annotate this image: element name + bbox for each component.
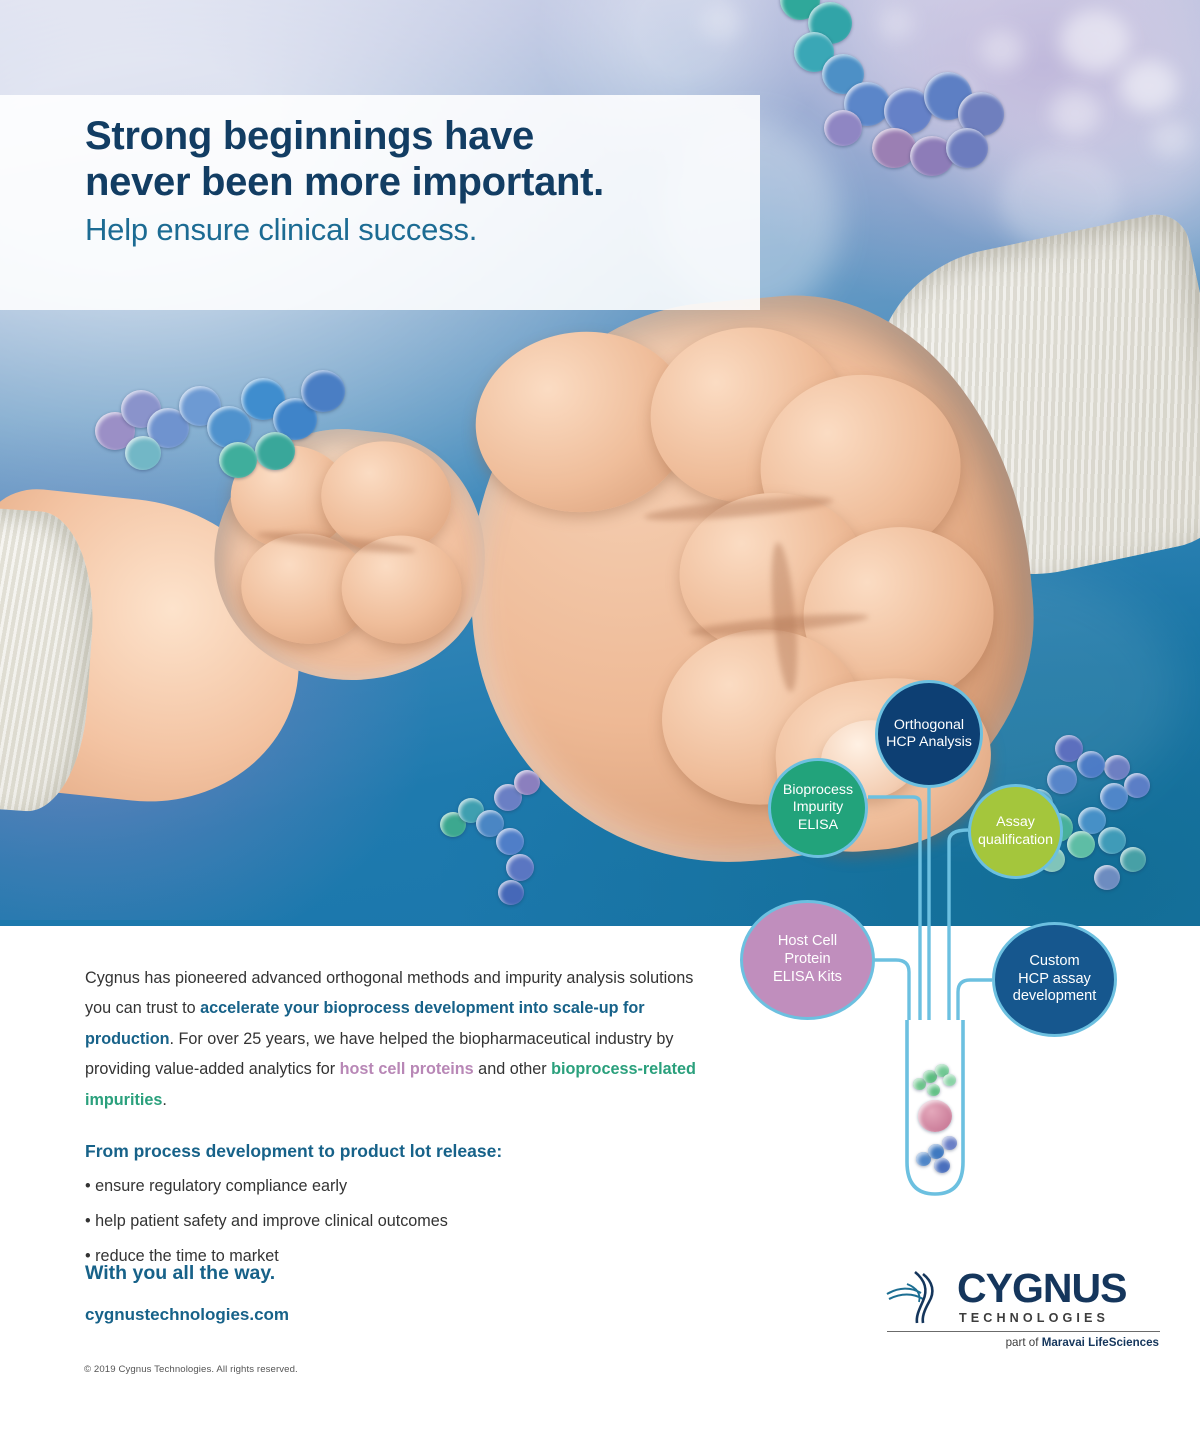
bokeh-circle — [1050, 90, 1100, 136]
molecule-node — [496, 828, 524, 855]
headline-line-1: Strong beginnings have — [85, 113, 604, 159]
emphasis-pink: host cell proteins — [340, 1060, 474, 1078]
antibody-molecule-mid-left — [95, 350, 365, 510]
benefits-list: ensure regulatory compliance early help … — [85, 1177, 705, 1265]
molecule-node — [125, 436, 161, 470]
advertisement-page: Strong beginnings have never been more i… — [0, 0, 1200, 1450]
logo-wordmark: CYGNUS — [957, 1269, 1160, 1308]
antibody-molecule-lower-left — [440, 770, 570, 915]
cygnus-logo: CYGNUS TECHNOLOGIES part of Maravai Life… — [885, 1268, 1160, 1349]
molecule-node — [928, 1144, 944, 1159]
bubble-label-line: Host Cell — [773, 933, 842, 951]
molecule-node — [872, 128, 916, 168]
intro-paragraph: Cygnus has pioneered advanced orthogonal… — [85, 963, 705, 1115]
logo-divider — [887, 1331, 1160, 1332]
bubble-label-line: Assay — [978, 814, 1053, 831]
headline-panel: Strong beginnings have never been more i… — [0, 95, 760, 310]
bubble-label-line: qualification — [978, 832, 1053, 849]
molecule-node — [506, 854, 534, 881]
bubble-label-line: ELISA — [783, 817, 853, 834]
bubble-label-line: HCP Analysis — [886, 734, 972, 751]
bokeh-circle — [1120, 60, 1178, 112]
bubble-assay-qualification[interactable]: Assay qualification — [968, 784, 1063, 879]
headline-line-2: never been more important. — [85, 159, 604, 205]
molecule-node — [943, 1074, 956, 1086]
list-heading: From process development to product lot … — [85, 1141, 705, 1162]
bubble-label-line: ELISA Kits — [773, 969, 842, 987]
molecule-node — [207, 406, 251, 448]
bubble-label-line: Custom — [1013, 953, 1097, 971]
molecule-node — [301, 370, 345, 412]
copyright-notice: © 2019 Cygnus Technologies. All rights r… — [84, 1364, 298, 1375]
molecule-node — [927, 1084, 940, 1096]
subheadline: Help ensure clinical success. — [85, 212, 477, 248]
antibody-molecule-top-right — [760, 0, 1020, 230]
molecule-node — [498, 880, 524, 905]
website-link[interactable]: cygnustechnologies.com — [85, 1305, 289, 1325]
molecule-node — [514, 770, 540, 795]
body-copy: Cygnus has pioneered advanced orthogonal… — [85, 963, 705, 1281]
list-item: ensure regulatory compliance early — [85, 1177, 705, 1196]
bubble-custom-hcp-assay-development[interactable]: Custom HCP assay development — [992, 922, 1117, 1037]
molecule-node — [946, 128, 988, 168]
parent-prefix: part of — [1006, 1336, 1042, 1349]
molecule-node — [824, 110, 862, 146]
bubble-orthogonal-hcp-analysis[interactable]: Orthogonal HCP Analysis — [875, 680, 983, 788]
bubble-label-line: development — [1013, 988, 1097, 1006]
cygnus-swan-mark-icon — [885, 1268, 947, 1326]
molecule-node — [219, 442, 257, 478]
bokeh-circle — [1150, 120, 1192, 158]
bokeh-circle — [1060, 10, 1130, 72]
bubble-label-line: HCP assay — [1013, 971, 1097, 989]
molecule-node — [934, 1158, 950, 1173]
emphasis-blue: accelerate your bioprocess development i… — [85, 999, 645, 1047]
molecule-node — [942, 1136, 957, 1150]
page-title: Strong beginnings have never been more i… — [85, 113, 604, 206]
services-diagram: Orthogonal HCP Analysis Bioprocess Impur… — [730, 670, 1170, 1270]
molecule-node — [255, 432, 295, 470]
molecule-node — [918, 1100, 952, 1132]
bubble-bioprocess-impurity-elisa[interactable]: Bioprocess Impurity ELISA — [768, 758, 868, 858]
tube-molecule-pink — [918, 1100, 952, 1132]
tube-molecule-blue — [916, 1134, 958, 1176]
parent-name: Maravai LifeSciences — [1042, 1336, 1159, 1349]
bubble-label-line: Impurity — [783, 799, 853, 816]
bubble-label-line: Protein — [773, 951, 842, 969]
bokeh-circle — [700, 4, 740, 40]
tube-molecule-green — [911, 1062, 959, 1100]
bubble-host-cell-protein-elisa-kits[interactable]: Host Cell Protein ELISA Kits — [740, 900, 875, 1020]
parent-company-line: part of Maravai LifeSciences — [885, 1336, 1160, 1349]
list-item: help patient safety and improve clinical… — [85, 1212, 705, 1231]
bubble-label-line: Orthogonal — [886, 717, 972, 734]
bubble-label-line: Bioprocess — [783, 782, 853, 799]
logo-subwordmark: TECHNOLOGIES — [957, 1311, 1160, 1325]
tagline: With you all the way. — [85, 1262, 275, 1285]
